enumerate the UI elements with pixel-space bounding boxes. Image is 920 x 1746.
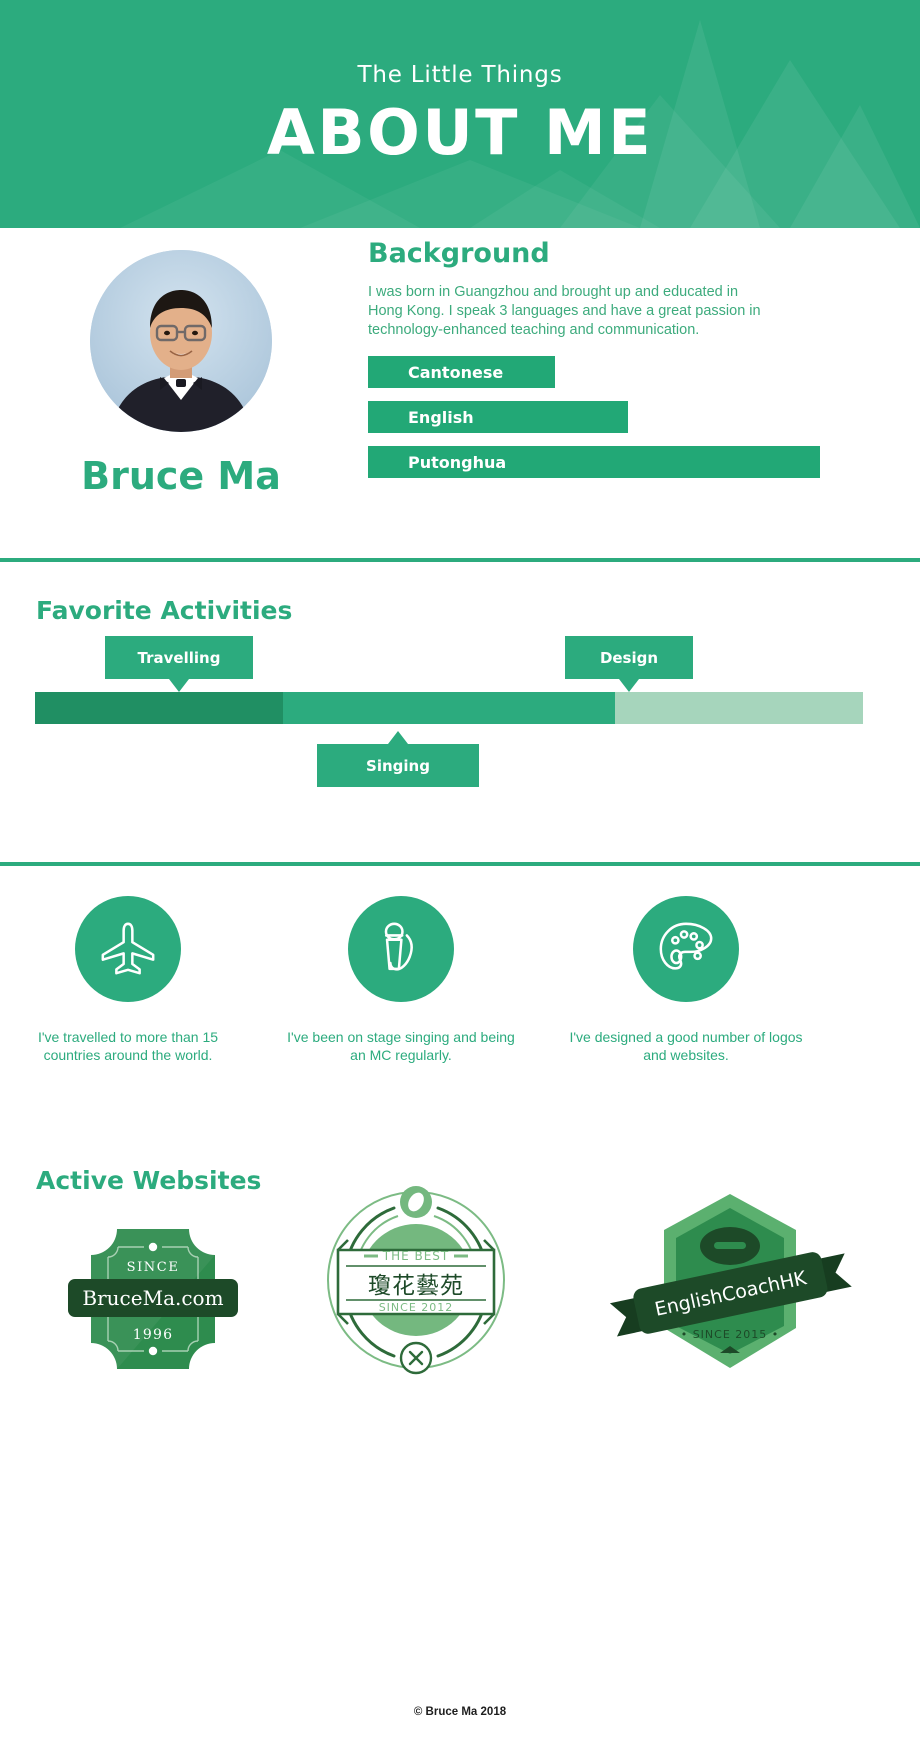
- language-bar: Putonghua: [368, 446, 820, 478]
- caret-up-icon: [388, 731, 408, 744]
- stat-caption: I've travelled to more than 15 countries…: [8, 1028, 248, 1064]
- stat-item: I've travelled to more than 15 countries…: [8, 896, 248, 1064]
- portrait-photo-icon: [90, 250, 272, 432]
- stat-item: I've been on stage singing and being an …: [281, 896, 521, 1064]
- caret-down-icon: [169, 679, 189, 692]
- language-bar: Cantonese: [368, 356, 555, 388]
- activity-tag-design: Design: [565, 636, 693, 679]
- activity-tag-label: Design: [600, 649, 658, 667]
- caret-down-icon: [619, 679, 639, 692]
- avatar: [90, 250, 272, 432]
- stat-icon-circle: [75, 896, 181, 1002]
- activity-tag-travelling: Travelling: [105, 636, 253, 679]
- website-badge-king-fa[interactable]: THE BEST 瓊花藝苑 SINCE 2012: [316, 1180, 516, 1380]
- stat-item: I've designed a good number of logos and…: [566, 896, 806, 1064]
- bar-segment-travelling: [35, 692, 283, 724]
- language-bar-list: Cantonese English Putonghua: [368, 356, 888, 478]
- svg-text:1996: 1996: [133, 1327, 173, 1343]
- svg-text:THE BEST: THE BEST: [382, 1249, 450, 1263]
- page-title: ABOUT ME: [0, 96, 920, 169]
- activities-heading: Favorite Activities: [36, 596, 292, 625]
- svg-text:BruceMa.com: BruceMa.com: [82, 1286, 223, 1310]
- englishcoachhk-badge-icon: • SINCE 2015 • EnglishCoachHK: [600, 1186, 860, 1376]
- activity-tag-label: Singing: [366, 757, 430, 775]
- stat-icon-circle: [348, 896, 454, 1002]
- website-badge-englishcoachhk[interactable]: • SINCE 2015 • EnglishCoachHK: [600, 1186, 860, 1376]
- brucema-badge-icon: SINCE BruceMa.com 1996: [62, 1219, 244, 1379]
- activities-stacked-bar: [35, 692, 863, 724]
- page-header: The Little Things ABOUT ME: [0, 0, 920, 228]
- background-paragraph: I was born in Guangzhou and brought up a…: [368, 283, 770, 340]
- background-heading: Background: [368, 238, 888, 269]
- microphone-icon: [370, 918, 432, 980]
- language-bar: English: [368, 401, 628, 433]
- infographic-page: The Little Things ABOUT ME: [0, 0, 920, 1746]
- avatar-column: Bruce Ma: [36, 250, 326, 498]
- activity-tag-singing: Singing: [317, 744, 479, 787]
- svg-text:• SINCE 2015 •: • SINCE 2015 •: [681, 1328, 780, 1341]
- language-label: Cantonese: [408, 363, 503, 382]
- bar-segment-singing: [283, 692, 614, 724]
- stat-icon-circle: [633, 896, 739, 1002]
- language-label: English: [408, 408, 474, 427]
- bar-segment-design: [615, 692, 863, 724]
- paint-palette-icon: [655, 918, 717, 980]
- website-badge-brucema[interactable]: SINCE BruceMa.com 1996: [62, 1219, 244, 1379]
- stat-caption: I've been on stage singing and being an …: [281, 1028, 521, 1064]
- svg-text:SINCE: SINCE: [127, 1260, 180, 1275]
- activities-section: Favorite Activities Travelling Design Si…: [0, 562, 920, 862]
- footer-copyright: © Bruce Ma 2018: [0, 1706, 920, 1718]
- stats-section: I've travelled to more than 15 countries…: [0, 866, 920, 1156]
- websites-section: Active Websites SINCE Bruc: [0, 1156, 920, 1456]
- activity-tag-label: Travelling: [138, 649, 221, 667]
- header-subtitle: The Little Things: [0, 62, 920, 88]
- svg-text:SINCE 2012: SINCE 2012: [379, 1301, 454, 1314]
- king-fa-ngai-yuen-badge-icon: THE BEST 瓊花藝苑 SINCE 2012: [316, 1180, 516, 1380]
- airplane-icon: [97, 918, 159, 980]
- profile-name: Bruce Ma: [36, 454, 326, 498]
- language-label: Putonghua: [408, 453, 506, 472]
- svg-text:瓊花藝苑: 瓊花藝苑: [368, 1273, 464, 1299]
- background-column: Background I was born in Guangzhou and b…: [368, 238, 888, 491]
- profile-section: Bruce Ma Background I was born in Guangz…: [0, 228, 920, 558]
- stat-caption: I've designed a good number of logos and…: [566, 1028, 806, 1064]
- websites-heading: Active Websites: [36, 1166, 261, 1195]
